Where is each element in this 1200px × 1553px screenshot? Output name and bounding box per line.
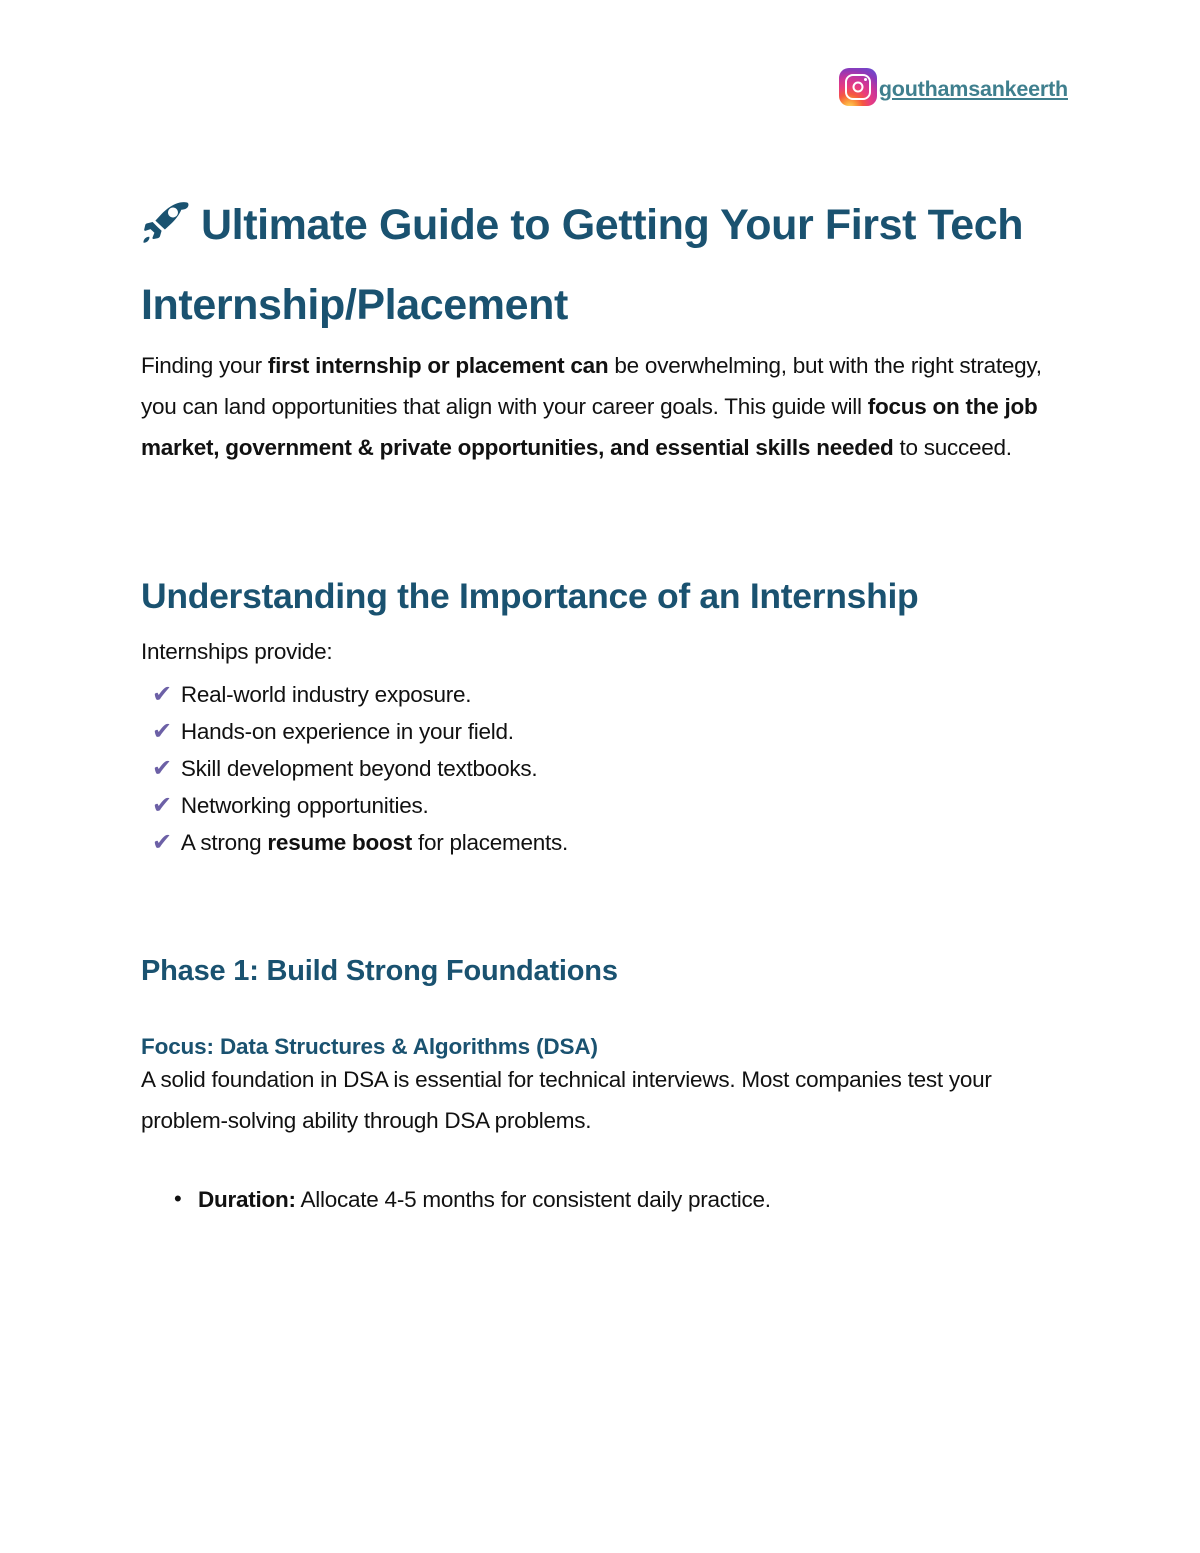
check-mark-icon: ✔: [152, 750, 172, 787]
phase-heading: Phase 1: Build Strong Foundations: [141, 861, 1059, 986]
list-item: ✔ Real-world industry exposure.: [152, 676, 1059, 713]
intro-bold1: first internship or placement can: [268, 353, 609, 378]
intro-part1: Finding your: [141, 353, 268, 378]
list-item: ✔ Hands-on experience in your field.: [152, 713, 1059, 750]
section-heading-importance: Understanding the Importance of an Inter…: [141, 468, 1059, 631]
check-mark-icon: ✔: [152, 824, 172, 861]
list-item: ✔ Skill development beyond textbooks.: [152, 750, 1059, 787]
list-item: ✔ A strong resume boost for placements.: [152, 824, 1059, 861]
list-item-pre: A strong: [181, 830, 268, 855]
intro-paragraph: Finding your first internship or placeme…: [141, 345, 1059, 468]
list-item-label: A strong resume boost for placements.: [181, 824, 568, 861]
check-mark-icon: ✔: [152, 676, 172, 713]
bullet-label: Duration:: [198, 1187, 296, 1212]
list-item-label: Networking opportunities.: [181, 787, 429, 824]
intro-part3: to succeed.: [893, 435, 1011, 460]
dsa-paragraph: A solid foundation in DSA is essential f…: [141, 1059, 1059, 1141]
list-item-post: for placements.: [412, 830, 568, 855]
list-item: Duration: Allocate 4-5 months for consis…: [141, 1181, 1059, 1219]
list-item-label: Hands-on experience in your field.: [181, 713, 514, 750]
document-content: Ultimate Guide to Getting Your First Tec…: [141, 0, 1059, 1219]
check-mark-icon: ✔: [152, 713, 172, 750]
check-mark-icon: ✔: [152, 787, 172, 824]
page-title-line1: Ultimate Guide to Getting Your: [201, 201, 813, 249]
bullet-text: Allocate 4-5 months for consistent daily…: [296, 1187, 771, 1212]
phase-bullet-list: Duration: Allocate 4-5 months for consis…: [141, 1181, 1059, 1219]
focus-heading: Focus: Data Structures & Algorithms (DSA…: [141, 986, 1059, 1059]
list-item-bold: resume boost: [267, 830, 412, 855]
list-item-label: Real-world industry exposure.: [181, 676, 471, 713]
list-item-label: Skill development beyond textbooks.: [181, 750, 537, 787]
list-item: ✔ Networking opportunities.: [152, 787, 1059, 824]
rocket-icon: [141, 201, 201, 245]
list-intro-text: Internships provide:: [141, 631, 1059, 672]
document-page: gouthamsankeerth Ultimate Guide to Getti…: [0, 0, 1200, 1553]
benefits-check-list: ✔ Real-world industry exposure. ✔ Hands-…: [141, 676, 1059, 861]
page-title: Ultimate Guide to Getting Your First Tec…: [141, 0, 1059, 345]
